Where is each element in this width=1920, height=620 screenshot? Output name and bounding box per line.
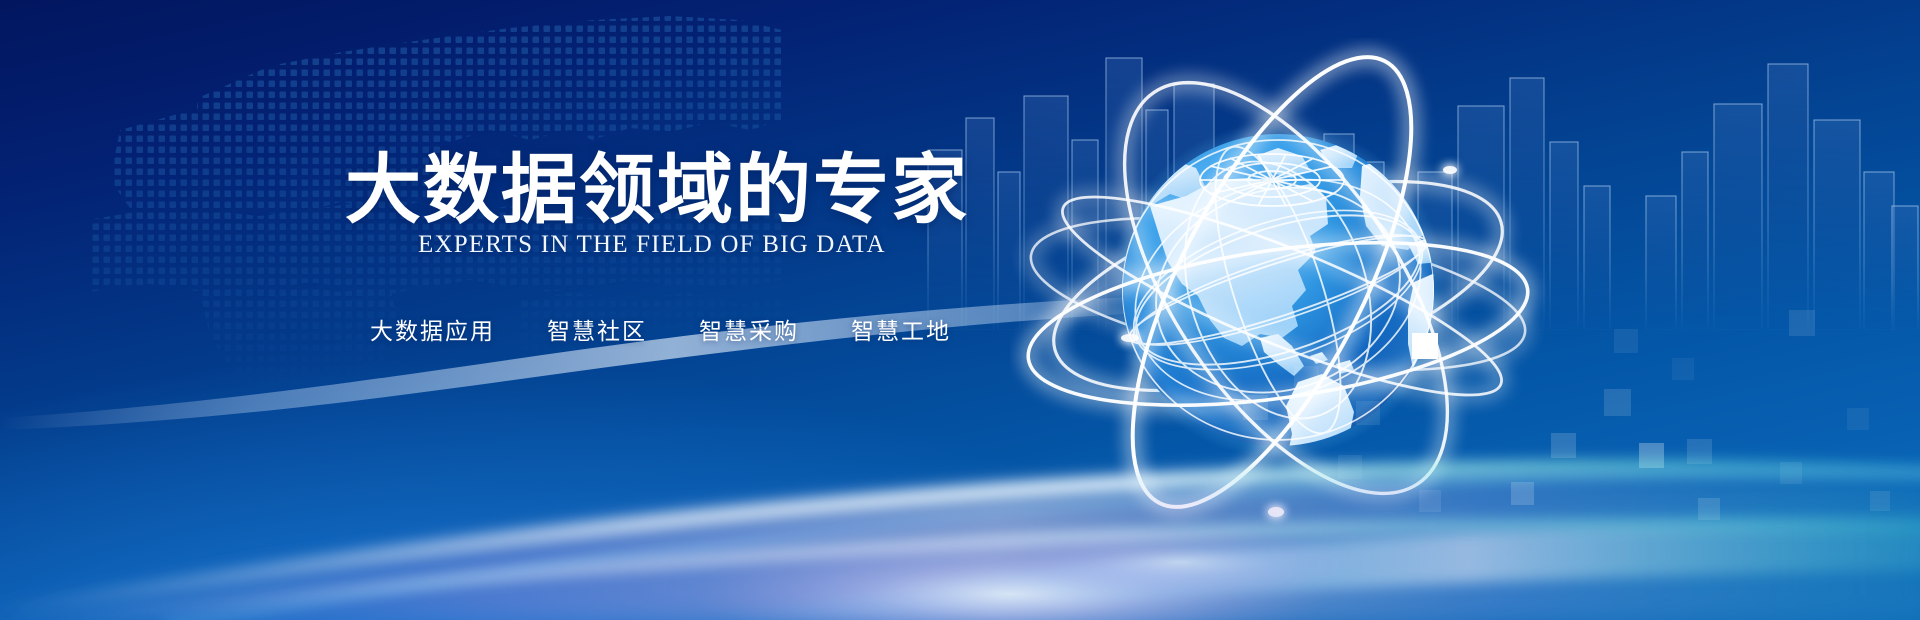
decorative-square-0: [1614, 329, 1638, 353]
city-skyline: [920, 0, 1920, 330]
decorative-square-10: [1356, 401, 1380, 425]
tag-item-0[interactable]: 大数据应用: [370, 312, 495, 346]
decorative-square-2: [1672, 358, 1694, 380]
page-subtitle: EXPERTS IN THE FIELD OF BIG DATA: [418, 231, 886, 259]
decorative-square-13: [1419, 490, 1441, 512]
tag-item-2[interactable]: 智慧采购: [699, 312, 799, 346]
decorative-square-14: [1698, 498, 1720, 520]
decorative-square-4: [1412, 333, 1438, 359]
tag-item-1[interactable]: 智慧社区: [547, 312, 647, 346]
decorative-square-17: [1870, 491, 1890, 511]
decorative-square-9: [1294, 366, 1319, 391]
decorative-square-5: [1551, 433, 1576, 458]
globe-graphic: [1010, 38, 1570, 558]
banner-copy: 大数据领域的专家 EXPERTS IN THE FIELD OF BIG DAT…: [0, 0, 1000, 620]
tag-list: 大数据应用智慧社区智慧采购智慧工地: [370, 312, 951, 346]
decorative-square-8: [1243, 395, 1268, 420]
decorative-square-15: [1780, 462, 1802, 484]
decorative-square-6: [1639, 443, 1664, 468]
decorative-square-1: [1789, 310, 1815, 336]
decorative-square-11: [1338, 455, 1362, 479]
page-title: 大数据领域的专家: [345, 152, 969, 228]
tag-item-3[interactable]: 智慧工地: [851, 312, 951, 346]
decorative-square-3: [1604, 389, 1631, 416]
decorative-square-12: [1511, 482, 1534, 505]
decorative-square-7: [1687, 439, 1712, 464]
hero-banner: 大数据领域的专家 EXPERTS IN THE FIELD OF BIG DAT…: [0, 0, 1920, 620]
decorative-square-16: [1847, 408, 1869, 430]
